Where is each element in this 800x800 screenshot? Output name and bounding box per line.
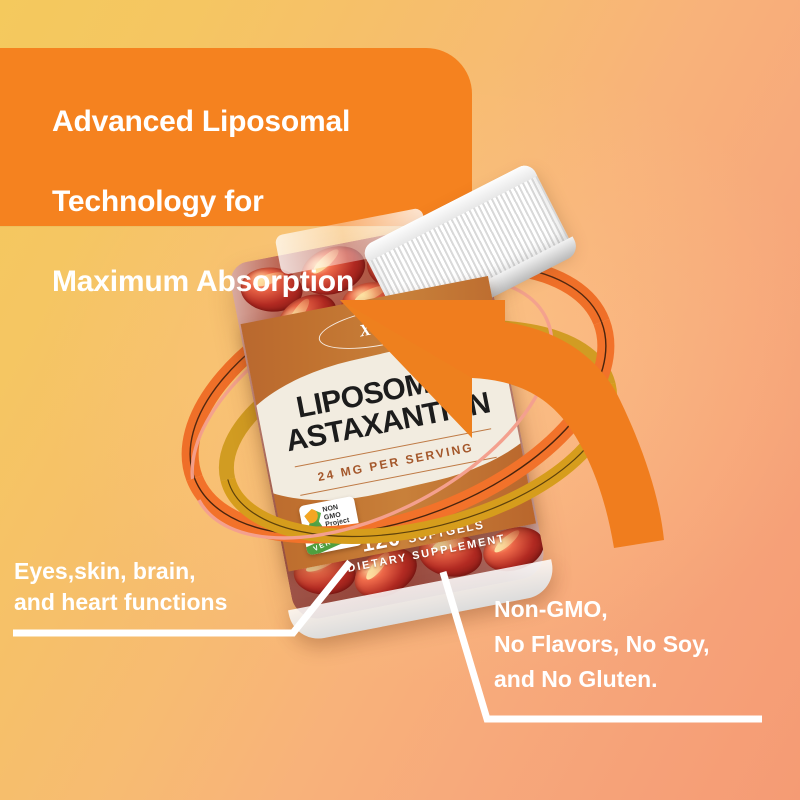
header-title: Advanced Liposomal Technology for Maximu… bbox=[52, 62, 522, 342]
benefit-left-line-2: and heart functions bbox=[14, 587, 344, 618]
badge-text: NON GMO Project bbox=[322, 502, 350, 529]
product-marketing-image: Advanced Liposomal Technology for Maximu… bbox=[0, 0, 800, 800]
benefit-callout-right: Non-GMO, No Flavors, No Soy, and No Glut… bbox=[494, 592, 794, 697]
benefit-right-line-3: and No Gluten. bbox=[494, 662, 794, 697]
header-line-2: Technology for bbox=[52, 182, 522, 222]
header-line-1: Advanced Liposomal bbox=[52, 102, 522, 142]
benefit-left-line-1: Eyes,skin, brain, bbox=[14, 556, 344, 587]
benefit-right-line-2: No Flavors, No Soy, bbox=[494, 627, 794, 662]
header-line-3: Maximum Absorption bbox=[52, 262, 522, 302]
butterfly-icon bbox=[303, 507, 324, 532]
benefit-callout-left: Eyes,skin, brain, and heart functions bbox=[14, 556, 344, 618]
benefit-right-line-1: Non-GMO, bbox=[494, 592, 794, 627]
